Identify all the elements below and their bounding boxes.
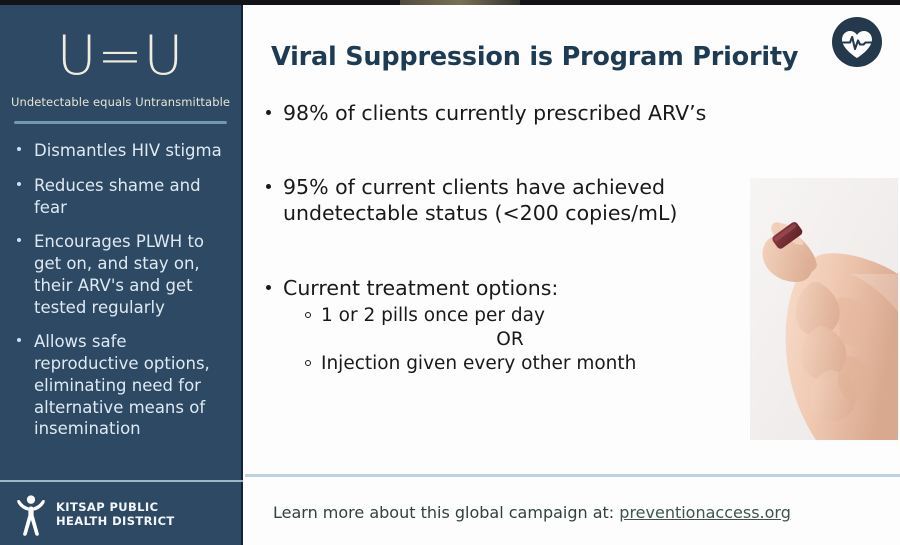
main-bullet-item: 98% of clients currently prescribed ARV’…	[259, 101, 739, 127]
main-bullet-text: Current treatment options:	[283, 276, 558, 300]
presentation-slide: U=U Undetectable equals Untransmittable …	[0, 0, 900, 545]
org-line-1: KITSAP PUBLIC	[56, 500, 175, 514]
main-bullet-item: Current treatment options: 1 or 2 pills …	[259, 276, 739, 376]
list-spacer	[259, 226, 739, 276]
preventionaccess-link[interactable]: preventionaccess.org	[619, 503, 791, 522]
hand-holding-pill-photo	[750, 178, 898, 440]
organization-name: KITSAP PUBLIC HEALTH DISTRICT	[56, 500, 175, 529]
sidebar-bullet-item: Encourages PLWH to get on, and stay on, …	[10, 231, 227, 318]
sidebar-bullet-text: Encourages PLWH to get on, and stay on, …	[34, 232, 204, 316]
sidebar-bullet-item: Allows safe reproductive options, elimin…	[10, 331, 227, 440]
bullet-dot-icon	[266, 184, 271, 189]
sidebar-footer-divider	[0, 480, 243, 482]
sidebar-bullet-text: Reduces shame and fear	[34, 176, 201, 217]
treatment-option-text: 1 or 2 pills once per day	[321, 305, 545, 326]
bullet-dot-icon	[17, 238, 21, 242]
sidebar-bullet-text: Allows safe reproductive options, elimin…	[34, 332, 210, 438]
learn-more-prefix: Learn more about this global campaign at…	[273, 503, 619, 522]
slide-sidebar: U=U Undetectable equals Untransmittable …	[0, 5, 243, 545]
treatment-option-item: 1 or 2 pills once per day	[305, 304, 739, 328]
sidebar-bullet-list: Dismantles HIV stigma Reduces shame and …	[0, 140, 241, 440]
page-title: Viral Suppression is Program Priority	[271, 42, 798, 72]
main-bullet-text: 95% of current clients have achieved und…	[283, 175, 677, 225]
bullet-dot-icon	[266, 285, 271, 290]
bullet-dot-icon	[17, 182, 21, 186]
main-bullet-item: 95% of current clients have achieved und…	[259, 175, 739, 227]
bullet-dot-icon	[17, 147, 21, 151]
treatment-options-sublist: 1 or 2 pills once per day OR Injection g…	[283, 304, 739, 376]
bullet-dot-icon	[266, 110, 271, 115]
footer-divider	[245, 474, 900, 477]
list-spacer	[259, 127, 739, 175]
sidebar-bullet-item: Dismantles HIV stigma	[10, 140, 227, 162]
main-bullet-text: 98% of clients currently prescribed ARV’…	[283, 101, 706, 125]
hollow-bullet-icon	[305, 312, 311, 318]
organization-logo: KITSAP PUBLIC HEALTH DISTRICT	[14, 491, 175, 537]
photo-illustration	[750, 178, 898, 440]
hollow-bullet-icon	[305, 360, 311, 366]
sidebar-bullet-text: Dismantles HIV stigma	[34, 141, 222, 160]
sidebar-divider	[14, 121, 227, 124]
sidebar-bullet-item: Reduces shame and fear	[10, 175, 227, 219]
bullet-dot-icon	[17, 338, 21, 342]
treatment-option-text: Injection given every other month	[321, 353, 636, 374]
slide-main-content: Viral Suppression is Program Priority 98…	[245, 5, 900, 545]
treatment-option-separator: OR	[265, 328, 739, 352]
uu-tagline: Undetectable equals Untransmittable	[0, 95, 241, 109]
learn-more-text: Learn more about this global campaign at…	[273, 503, 791, 522]
main-bullet-list: 98% of clients currently prescribed ARV’…	[259, 101, 739, 376]
treatment-option-item: Injection given every other month	[305, 352, 739, 376]
uu-logo: U=U	[0, 29, 241, 83]
org-line-2: HEALTH DISTRICT	[56, 514, 175, 528]
person-figure-icon	[14, 491, 48, 537]
heart-pulse-icon	[830, 15, 884, 69]
